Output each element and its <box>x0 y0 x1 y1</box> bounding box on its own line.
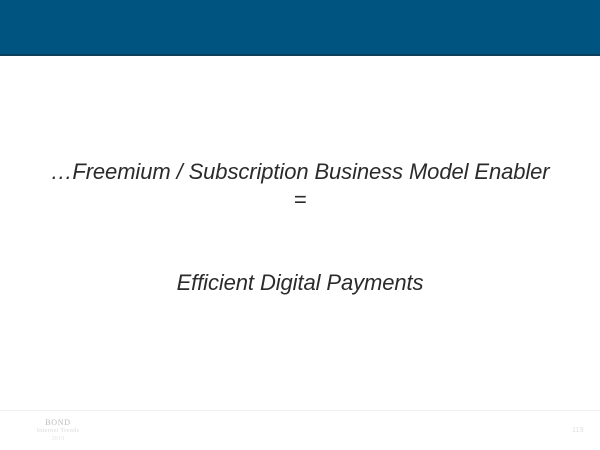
brand-name: BOND <box>10 419 106 427</box>
slide-top-banner <box>0 0 600 54</box>
slide-content: …Freemium / Subscription Business Model … <box>0 56 600 410</box>
slide-headline-secondary: Efficient Digital Payments <box>50 269 550 297</box>
slide-headline-primary: …Freemium / Subscription Business Model … <box>50 158 550 214</box>
brand-logo: BOND Internet Trends 2019 <box>10 419 106 443</box>
presentation-slide: …Freemium / Subscription Business Model … <box>0 0 600 450</box>
brand-report-year: 2019 <box>10 436 106 442</box>
page-number: 119 <box>572 427 584 434</box>
slide-footer: BOND Internet Trends 2019 119 <box>0 411 600 450</box>
brand-report-title: Internet Trends <box>10 428 106 435</box>
